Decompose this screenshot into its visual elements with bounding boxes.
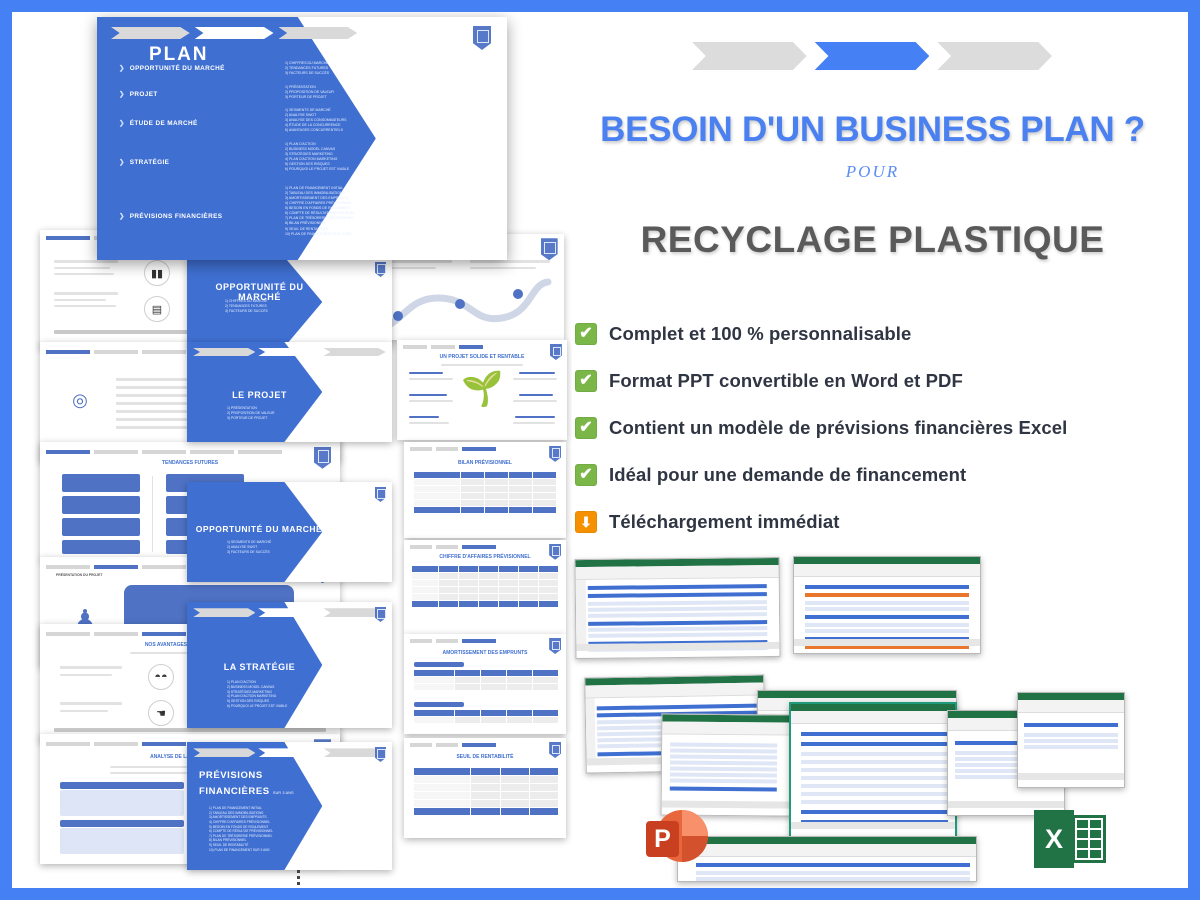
hero-section-items: 1) PRÉSENTATION 2) PROPOSITION DE VALEUR… [285, 85, 334, 100]
content-slide-title: SEUIL DE RENTABILITÉ [404, 754, 566, 760]
excel-window[interactable] [677, 836, 977, 882]
feature-list: ✔ Complet et 100 % personnalisable ✔ For… [575, 310, 1187, 545]
hand-icon: ☚ [148, 700, 174, 726]
subject-title: RECYCLAGE PLASTIQUE [557, 219, 1188, 261]
deco-bar [54, 305, 116, 307]
hero-section-items: 1) CHIFFRES DU MARCHÉ 2) TENDANCES FUTUR… [285, 61, 329, 76]
hero-section-items: 1) SEGMENTS DE MARCHÉ 2) ANALYSE SWOT 3)… [285, 108, 347, 133]
list-item: ✔ Contient un modèle de prévisions finan… [575, 404, 1187, 451]
section-slide-opportunite-2[interactable]: OPPORTUNITÉ DU MARCHÉ 1) SEGMENTS DE MAR… [187, 482, 392, 582]
table-label [414, 702, 464, 707]
forecast-table [414, 472, 556, 530]
hero-section-label: ❯OPPORTUNITÉ DU MARCHÉ [119, 64, 225, 72]
hero-section-items: 1) PLAN D'ACTION 2) BUSINESS MODEL CANVA… [285, 142, 349, 172]
binoculars-icon: ◓◓ [148, 664, 174, 690]
swot-cell [60, 828, 184, 854]
section-title: PRÉVISIONS [199, 770, 263, 781]
plant-icon: 🌱 [461, 372, 503, 424]
deco-bar [60, 666, 122, 669]
deco-bar [513, 378, 557, 380]
check-icon: ✔ [575, 323, 597, 345]
section-title-2: FINANCIÈRES [199, 786, 270, 797]
feature-text: Format PPT convertible en Word et PDF [609, 370, 963, 392]
chevron-tab[interactable] [111, 27, 190, 39]
hero-section-label: ❯PRÉVISIONS FINANCIÈRES [119, 212, 222, 220]
hero-section-label: ❯ÉTUDE DE MARCHÉ [119, 119, 198, 127]
content-slide-projet-rentable[interactable]: UN PROJET SOLIDE ET RENTABLE 🌱 [397, 340, 567, 440]
content-slide-title: BILAN PRÉVISIONNEL [404, 460, 566, 466]
info-box [62, 518, 140, 536]
revenue-table [412, 566, 558, 626]
hero-slide-plan[interactable]: PLAN ❯OPPORTUNITÉ DU MARCHÉ 1) CHIFFRES … [97, 17, 507, 260]
check-icon: ✔ [575, 417, 597, 439]
chevron-tabs [193, 748, 386, 757]
deco-bar [54, 267, 110, 269]
spacer [787, 548, 1087, 550]
excel-window[interactable] [574, 557, 780, 659]
deco-bar [470, 260, 550, 263]
swot-header [60, 782, 184, 789]
deco-bar [513, 400, 557, 402]
deco-bar [409, 372, 443, 374]
deco-bar [513, 422, 555, 424]
slide-nav [410, 545, 496, 549]
content-slide-ca-previsionnel[interactable]: CHIFFRE D'AFFAIRES PRÉVISIONNEL [404, 540, 566, 634]
hero-section-label: ❯STRATÉGIE [119, 158, 169, 166]
chevron-tabs [111, 27, 441, 39]
deco-bar [409, 422, 449, 424]
deco-bar [54, 292, 118, 295]
content-slide-amortissement[interactable]: AMORTISSEMENT DES EMPRUNTS [404, 634, 566, 734]
deco-bar [519, 372, 555, 374]
info-box [62, 496, 140, 514]
content-slide-title: AMORTISSEMENT DES EMPRUNTS [404, 650, 566, 656]
info-box [62, 474, 140, 492]
slide-nav [410, 447, 496, 451]
deco-bar [515, 416, 555, 418]
chevron-graphic [187, 257, 392, 347]
deco-bar [54, 728, 326, 732]
section-items: 1) SEGMENTS DE MARCHÉ 2) ANALYSE SWOT 3)… [227, 540, 271, 555]
excel-window[interactable] [793, 556, 981, 654]
chevron-segment-left [692, 42, 807, 70]
deco-bar [519, 394, 553, 396]
chevron-segment-center [815, 42, 930, 70]
section-slide-strategie[interactable]: LA STRATÉGIE 1) PLAN D'ACTION 2) BUSINES… [187, 602, 392, 728]
section-items: 1) PLAN D'ACTION 2) BUSINESS MODEL CANVA… [227, 680, 287, 709]
poster-canvas: LES CHIFFRES DU MARCHÉ ▮▮ ▤ ▤ ▥ ◎ [12, 12, 1188, 888]
excel-window-front[interactable] [789, 702, 957, 838]
deco-bar [60, 710, 108, 712]
loan-table-2 [414, 710, 558, 730]
deco-bar [409, 378, 453, 380]
dotted-connector [297, 870, 300, 888]
section-items: 1) PRÉSENTATION 2) PROPOSITION DE VALEUR… [227, 406, 274, 421]
powerpoint-letter: P [646, 821, 679, 857]
slide-nav [410, 639, 496, 643]
chevron-header-decoration [692, 42, 1052, 70]
excel-window[interactable] [1017, 692, 1125, 788]
chevron-tab[interactable] [279, 27, 358, 39]
section-title: LE PROJET [197, 390, 322, 400]
check-icon: ✔ [575, 464, 597, 486]
list-item: ✔ Complet et 100 % personnalisable [575, 310, 1187, 357]
content-slide-title: CHIFFRE D'AFFAIRES PRÉVISIONNEL [404, 554, 566, 560]
slide-nav [403, 345, 483, 349]
download-icon: ⬇ [575, 511, 597, 533]
feature-text: Complet et 100 % personnalisable [609, 323, 911, 345]
excel-letter: X [1034, 810, 1074, 868]
connector-label: POUR [557, 162, 1188, 182]
table-label [414, 662, 464, 667]
chevron-tabs [193, 348, 386, 356]
deco-bar [54, 260, 118, 263]
excel-window[interactable] [661, 713, 792, 816]
section-slide-previsions[interactable]: PRÉVISIONS FINANCIÈRES SUR 3 ANS 1) PLAN… [187, 742, 392, 870]
list-item: ✔ Idéal pour une demande de financement [575, 451, 1187, 498]
target-icon: ◎ [60, 380, 100, 420]
section-items: 1) PLAN DE FINANCEMENT INITIAL 2) TABLEA… [209, 806, 273, 852]
feature-text: Contient un modèle de prévisions financi… [609, 417, 1067, 439]
chevron-segment-right [937, 42, 1052, 70]
section-title: LA STRATÉGIE [197, 662, 322, 672]
chevron-tabs [193, 608, 386, 617]
loan-table-1 [414, 670, 558, 696]
offer-panel: BESOIN D'UN BUSINESS PLAN ? POUR RECYCLA… [557, 12, 1188, 888]
divider [152, 476, 153, 552]
swot-header [60, 820, 184, 827]
deco-bar [60, 674, 112, 676]
slide-nav [410, 743, 496, 747]
shield-badge-icon [541, 238, 558, 260]
excel-logo-icon: X [1034, 810, 1106, 868]
document-icon: ▤ [144, 296, 170, 322]
deco-bar [54, 273, 114, 275]
section-slide-opportunite-1[interactable]: OPPORTUNITÉ DU MARCHÉ 1) CHIFFRES DU MAR… [187, 257, 392, 347]
deco-bar [409, 394, 447, 396]
content-slide-seuil[interactable]: SEUIL DE RENTABILITÉ [404, 738, 566, 838]
hero-section-label: ❯PROJET [119, 90, 158, 98]
deco-bar [54, 299, 106, 301]
slide-nav [46, 450, 282, 454]
hero-section-items: 1) PLAN DE FINANCEMENT INITIAL 2) TABLEA… [285, 186, 355, 237]
info-box [62, 540, 140, 554]
deco-bar [441, 364, 523, 366]
section-title: OPPORTUNITÉ DU MARCHÉ [193, 524, 325, 534]
hero-title: PLAN [149, 44, 208, 66]
chart-icon: ▮▮ [144, 260, 170, 286]
chevron-tab[interactable] [362, 27, 441, 39]
swot-cell [60, 790, 184, 816]
deco-bar [60, 702, 122, 705]
list-item: ⬇ Téléchargement immédiat [575, 498, 1187, 545]
section-slide-projet[interactable]: LE PROJET 1) PRÉSENTATION 2) PROPOSITION… [187, 342, 392, 442]
breakeven-table [414, 768, 558, 826]
powerpoint-logo-icon: P [646, 808, 708, 870]
check-icon: ✔ [575, 370, 597, 392]
chevron-tab[interactable] [195, 27, 274, 39]
deco-bar [409, 416, 439, 418]
feature-text: Idéal pour une demande de financement [609, 464, 966, 486]
deco-bar [409, 400, 453, 402]
slide-deck-collage: LES CHIFFRES DU MARCHÉ ▮▮ ▤ ▤ ▥ ◎ [12, 12, 572, 888]
page-title: BESOIN D'UN BUSINESS PLAN ? [557, 110, 1188, 150]
content-slide-bilan[interactable]: BILAN PRÉVISIONNEL [404, 442, 566, 538]
section-title-suffix: SUR 3 ANS [273, 791, 294, 795]
promo-poster: LES CHIFFRES DU MARCHÉ ▮▮ ▤ ▤ ▥ ◎ [0, 0, 1200, 900]
section-items: 1) CHIFFRES DU MARCHÉ 2) TENDANCES FUTUR… [225, 299, 268, 314]
excel-grid [1072, 815, 1106, 863]
list-item: ✔ Format PPT convertible en Word et PDF [575, 357, 1187, 404]
feature-text: Téléchargement immédiat [609, 511, 840, 533]
content-slide-title: TENDANCES FUTURES [40, 460, 340, 466]
content-slide-title: UN PROJET SOLIDE ET RENTABLE [397, 354, 567, 360]
